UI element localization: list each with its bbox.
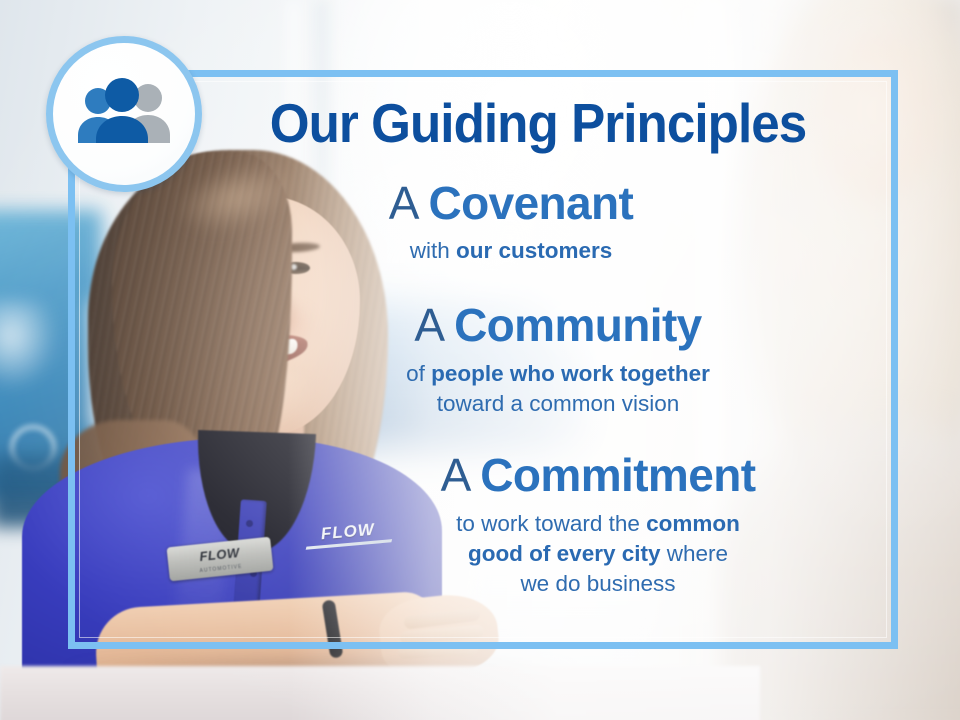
subtext-plain: to work toward the [456,511,646,536]
subtext-plain: of [406,361,431,386]
page-title: Our Guiding Principles [240,96,835,151]
principle-heading: A Covenant [124,180,898,227]
principle-covenant: A Covenant with our customers [68,180,898,266]
subtext-plain: toward a common vision [437,391,680,416]
principle-word: Community [454,299,702,351]
subtext-bold: good of every city [468,541,661,566]
guiding-principles-graphic: FLOW AUTOMOTIVE FLOW [0,0,960,720]
principle-subtext: with our customers [124,236,898,266]
principle-article: A [414,299,442,351]
principle-community: A Community of people who work together … [68,302,898,419]
principle-commitment: A Commitment to work toward the common g… [68,452,898,599]
subtext-bold: common [646,511,740,536]
principle-heading: A Community [218,302,898,349]
subtext-bold: our customers [456,238,612,263]
principle-subtext: to work toward the common good of every … [298,509,898,599]
subtext-plain: with [410,238,456,263]
principle-article: A [389,177,417,229]
subtext-plain: we do business [520,571,675,596]
text-content: Our Guiding Principles A Covenant with o… [68,70,898,649]
principle-word: Covenant [428,177,633,229]
subtext-plain: where [661,541,729,566]
principle-heading: A Commitment [298,452,898,499]
principle-article: A [441,449,469,501]
subtext-bold: people who work together [431,361,710,386]
principle-subtext: of people who work together toward a com… [218,359,898,419]
principle-word: Commitment [480,449,755,501]
